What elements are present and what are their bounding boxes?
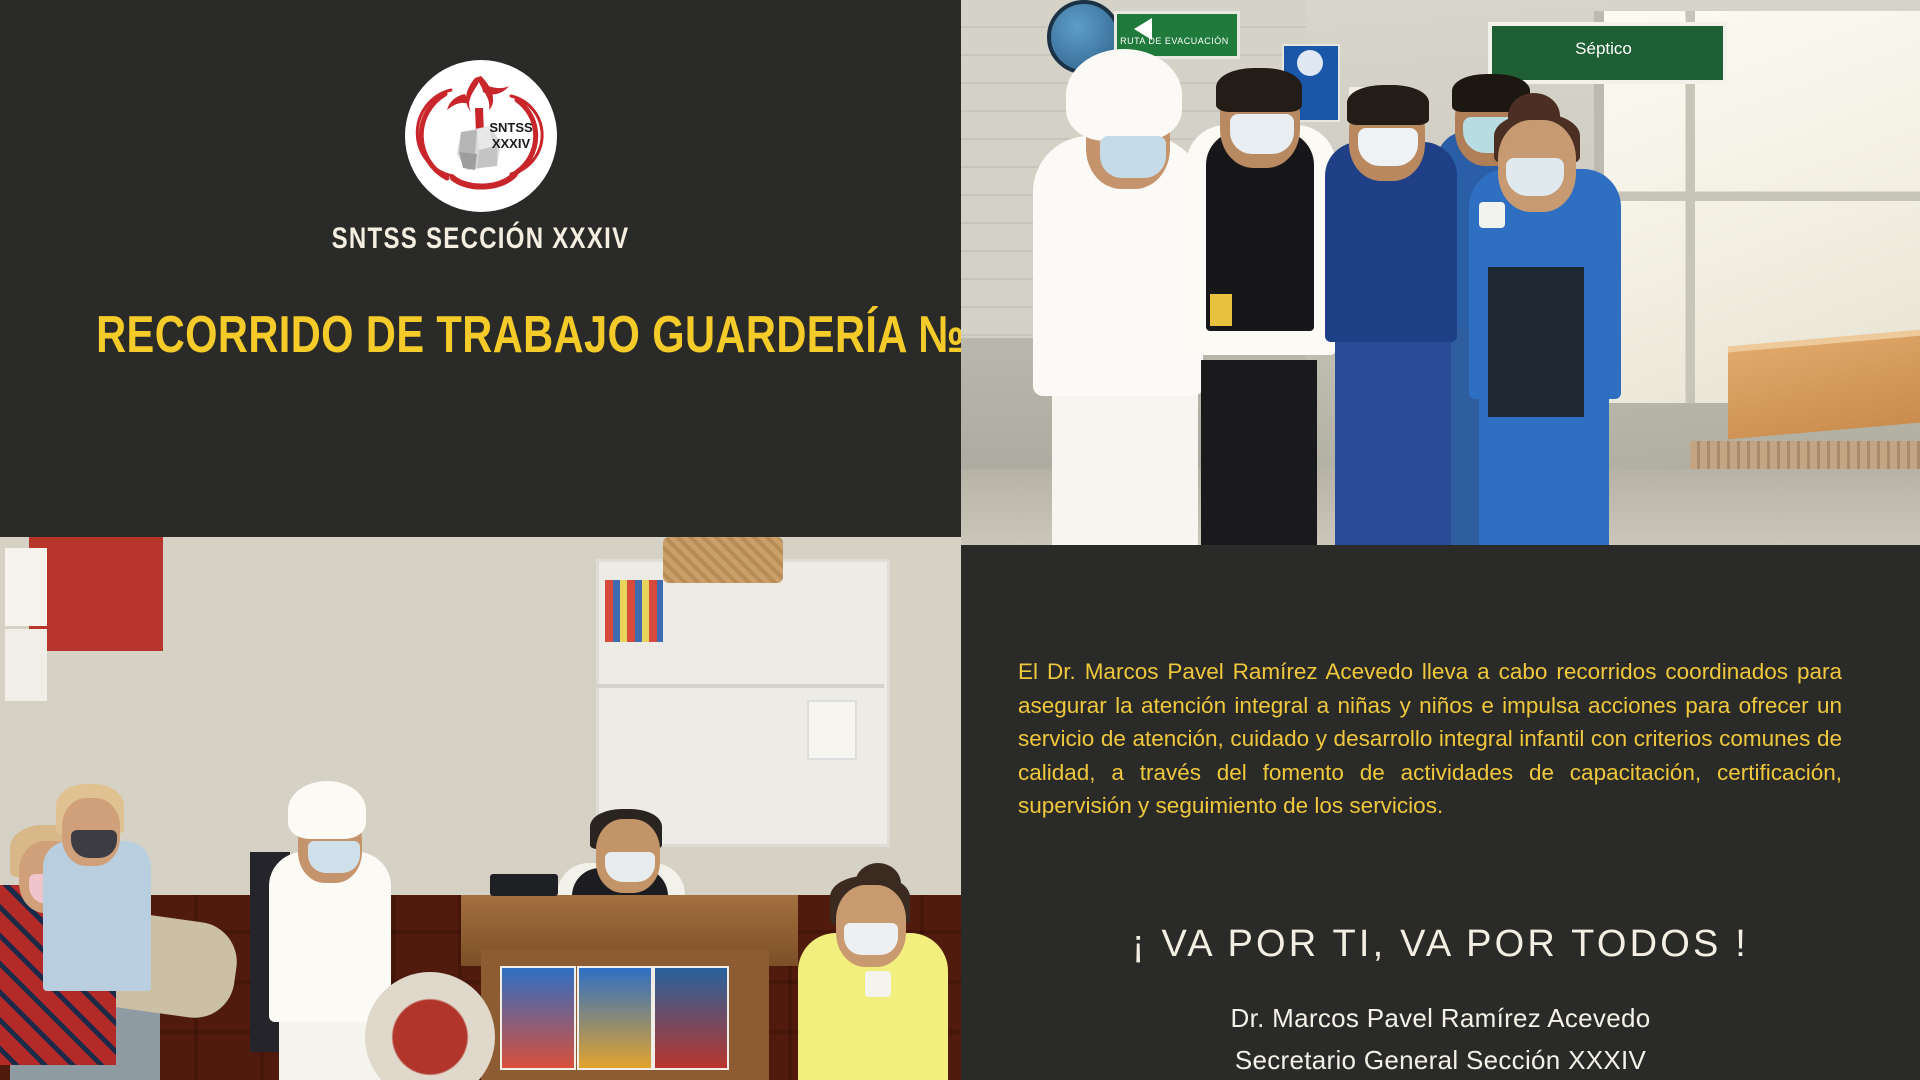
logo-text-line2: XXXIV (491, 136, 530, 151)
page-title: RECORRIDO DE TRABAJO GUARDERÍA №. 33 (96, 305, 865, 365)
framed-picture (807, 700, 857, 760)
logo-text-line1: SNTSS (489, 120, 533, 135)
wall-document (5, 548, 47, 626)
evacuation-sign-label: RUTA DE EVACUACIÓN (1114, 36, 1234, 46)
tablet-device (490, 874, 558, 896)
logo-disc: SNTSS XXXIV (405, 60, 557, 212)
photo-guarderia-office-meeting (0, 537, 961, 1080)
imss-badge (865, 971, 891, 997)
changing-table (1728, 330, 1920, 440)
face-mask (1506, 158, 1564, 196)
face-mask (71, 830, 117, 858)
wicker-basket (663, 537, 783, 583)
toy-delivery-poster (653, 966, 729, 1070)
toy-delivery-poster (500, 966, 576, 1070)
face-mask (308, 841, 360, 873)
face-mask (605, 852, 655, 882)
chef-hat (1066, 49, 1182, 141)
face-mask (1358, 128, 1418, 166)
sntss-logo: SNTSS XXXIV (405, 60, 557, 212)
wall-document (5, 629, 47, 701)
body-paragraph: El Dr. Marcos Pavel Ramírez Acevedo llev… (1018, 655, 1842, 823)
signature-role: Secretario General Sección XXXIV (961, 1045, 1920, 1076)
torch-icon: SNTSS XXXIV (405, 60, 557, 212)
photo-content-top: RUTA DE EVACUACIÓN Séptico (961, 0, 1920, 545)
handwash-icon (1297, 50, 1323, 76)
toy-delivery-poster (577, 966, 653, 1070)
face-mask (1230, 114, 1294, 154)
id-badge (1210, 294, 1232, 326)
title-panel: SNTSS XXXIV SNTSS SECCIÓN XXXIV RECORRID… (0, 0, 961, 537)
slogan-heading: ¡ VA POR TI, VA POR TODOS ! (961, 923, 1920, 966)
folders (605, 580, 663, 642)
signature-name: Dr. Marcos Pavel Ramírez Acevedo (961, 1003, 1920, 1034)
chef-hat (288, 781, 366, 839)
organization-name: SNTSS SECCIÓN XXXIV (96, 222, 865, 256)
message-panel: El Dr. Marcos Pavel Ramírez Acevedo llev… (961, 545, 1920, 1080)
septico-sign-label: Séptico (1488, 22, 1718, 77)
photo-content-bottom (0, 537, 961, 1080)
photo-guarderia-corridor: RUTA DE EVACUACIÓN Séptico (961, 0, 1920, 545)
face-mask (844, 923, 898, 955)
face-mask (1100, 136, 1166, 178)
imss-badge (1479, 202, 1505, 228)
poster-canvas: SNTSS XXXIV SNTSS SECCIÓN XXXIV RECORRID… (0, 0, 1920, 1080)
